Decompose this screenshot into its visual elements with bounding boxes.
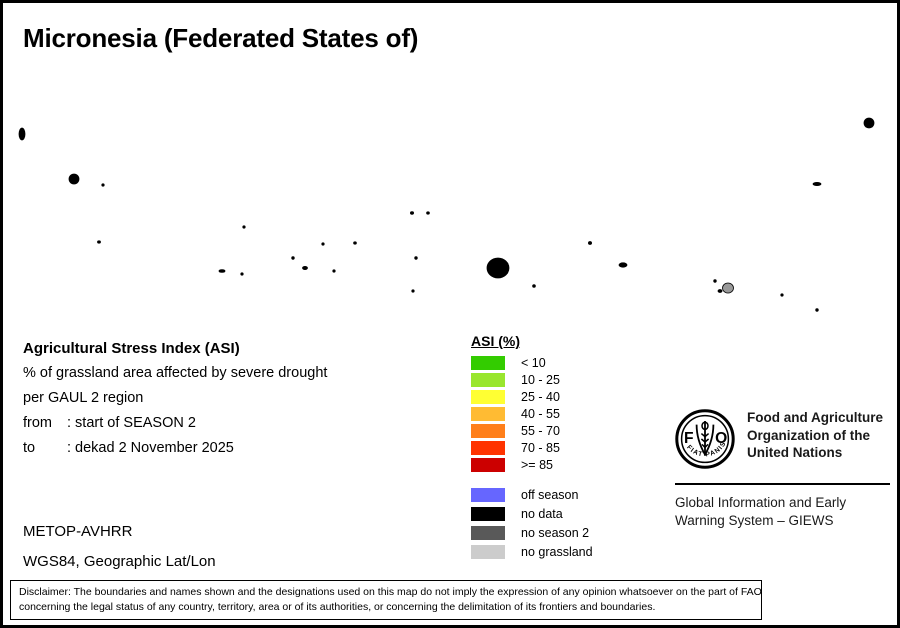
map-canvas[interactable]: [6, 58, 900, 313]
legend-class-swatch: [471, 356, 505, 370]
giews-line-2: Warning System – GIEWS: [675, 512, 890, 530]
disclaimer-line-1: Disclaimer: The boundaries and names sho…: [19, 581, 761, 600]
fao-logo-icon: F O FIAT PANIS: [675, 409, 735, 474]
map-feature-island-woleai[interactable]: [219, 270, 225, 273]
legend-special-row[interactable]: no data: [471, 505, 641, 522]
map-feature-island-nomwin[interactable]: [619, 263, 627, 267]
map-feature-island-ant[interactable]: [718, 290, 722, 293]
giews-text: Global Information and Early Warning Sys…: [675, 494, 890, 530]
legend: ASI (%) < 1010 - 2525 - 4040 - 5555 - 70…: [471, 333, 641, 562]
legend-title: ASI (%): [471, 333, 641, 349]
disclaimer-line-2: concerning the legal status of any count…: [19, 600, 761, 615]
map-feature-island-lamotrek[interactable]: [292, 257, 295, 260]
legend-class-swatch: [471, 407, 505, 421]
map-feature-island-chuuk-lagoon[interactable]: [487, 258, 509, 278]
map-feature-island-eauripik[interactable]: [243, 226, 245, 228]
description-block: Agricultural Stress Index (ASI) % of gra…: [23, 336, 453, 461]
svg-text:F: F: [684, 430, 694, 447]
map-feature-island-nama[interactable]: [588, 242, 591, 245]
fao-emblem-svg: F O FIAT PANIS: [675, 409, 735, 469]
disclaimer-box: Disclaimer: The boundaries and names sho…: [10, 580, 762, 620]
page-title: Micronesia (Federated States of): [23, 23, 418, 54]
map-feature-island-ifalik[interactable]: [241, 273, 243, 275]
legend-special-swatch: [471, 507, 505, 521]
period-from-label: from: [23, 411, 67, 436]
legend-special-swatch: [471, 526, 505, 540]
legend-class-list: < 1010 - 2525 - 4040 - 5555 - 7070 - 85>…: [471, 355, 641, 473]
map-feature-island-pohnpei[interactable]: [723, 283, 734, 293]
fao-header: F O FIAT PANIS Food and Agriculture: [675, 409, 890, 474]
legend-special-swatch: [471, 488, 505, 502]
legend-class-label: 40 - 55: [521, 407, 560, 421]
legend-class-label: 55 - 70: [521, 424, 560, 438]
source-projection: WGS84, Geographic Lat/Lon: [23, 547, 216, 577]
map-feature-island-losap[interactable]: [533, 285, 536, 288]
legend-class-label: 70 - 85: [521, 441, 560, 455]
legend-special-label: no data: [521, 507, 563, 521]
legend-class-label: 10 - 25: [521, 373, 560, 387]
map-feature-island-namonuito[interactable]: [415, 257, 418, 260]
fao-org-line-3: United Nations: [747, 444, 883, 462]
map-feature-island-mokil[interactable]: [813, 182, 821, 185]
source-sensor: METOP-AVHRR: [23, 517, 216, 547]
legend-special-label: no grassland: [521, 545, 593, 559]
description-line-2: per GAUL 2 region: [23, 386, 453, 411]
legend-class-label: < 10: [521, 356, 546, 370]
period-to-value: : dekad 2 November 2025: [67, 440, 234, 456]
map-feature-island-kosrae[interactable]: [864, 118, 874, 128]
legend-class-label: >= 85: [521, 458, 553, 472]
map-feature-island-ngulu[interactable]: [102, 184, 104, 186]
legend-special-row[interactable]: no grassland: [471, 543, 641, 560]
legend-class-row[interactable]: < 10: [471, 355, 641, 371]
fao-org-name: Food and Agriculture Organization of the…: [747, 409, 883, 462]
giews-line-1: Global Information and Early: [675, 494, 890, 512]
legend-class-label: 25 - 40: [521, 390, 560, 404]
legend-class-row[interactable]: 55 - 70: [471, 423, 641, 439]
period-from-value: : start of SEASON 2: [67, 415, 196, 431]
legend-special-label: no season 2: [521, 526, 589, 540]
legend-class-row[interactable]: 70 - 85: [471, 440, 641, 456]
legend-special-swatch: [471, 545, 505, 559]
period-to-label: to: [23, 436, 67, 461]
map-feature-island-pikelot[interactable]: [427, 212, 430, 214]
map-feature-island-sorol[interactable]: [98, 241, 101, 243]
legend-special-label: off season: [521, 488, 578, 502]
legend-class-row[interactable]: >= 85: [471, 457, 641, 473]
map-page: Micronesia (Federated States of) Agricul…: [0, 0, 900, 628]
map-feature-island-pingelap[interactable]: [816, 309, 819, 312]
map-feature-island-yap-west[interactable]: [19, 128, 25, 140]
legend-special-row[interactable]: off season: [471, 486, 641, 503]
legend-class-row[interactable]: 10 - 25: [471, 372, 641, 388]
map-feature-island-satawal[interactable]: [303, 266, 308, 269]
legend-class-swatch: [471, 373, 505, 387]
map-feature-island-oroluk[interactable]: [714, 280, 717, 283]
legend-class-swatch: [471, 458, 505, 472]
map-feature-island-yap-main[interactable]: [69, 174, 79, 184]
legend-class-row[interactable]: 40 - 55: [471, 406, 641, 422]
fao-divider: [675, 483, 890, 485]
legend-special-list: off seasonno datano season 2no grassland: [471, 486, 641, 560]
description-line-1: % of grassland area affected by severe d…: [23, 361, 453, 386]
legend-class-swatch: [471, 441, 505, 455]
map-feature-island-gaferut[interactable]: [410, 212, 413, 215]
period-to-row: to: dekad 2 November 2025: [23, 436, 453, 461]
legend-special-row[interactable]: no season 2: [471, 524, 641, 541]
map-feature-island-hall[interactable]: [412, 290, 414, 292]
map-feature-island-faraulep[interactable]: [322, 243, 324, 245]
fao-branding-block: F O FIAT PANIS Food and Agriculture: [675, 409, 890, 530]
source-block: METOP-AVHRR WGS84, Geographic Lat/Lon: [23, 517, 216, 577]
map-feature-island-pakin[interactable]: [781, 294, 783, 296]
map-feature-group: [19, 118, 899, 313]
description-heading: Agricultural Stress Index (ASI): [23, 336, 453, 361]
fao-org-line-2: Organization of the: [747, 427, 883, 445]
map-feature-island-puluwat[interactable]: [333, 270, 335, 272]
fao-org-line-1: Food and Agriculture: [747, 409, 883, 427]
map-feature-island-elato[interactable]: [354, 242, 357, 244]
map-islands-svg: [6, 58, 900, 313]
period-from-row: from: start of SEASON 2: [23, 411, 453, 436]
legend-class-swatch: [471, 424, 505, 438]
legend-class-swatch: [471, 390, 505, 404]
legend-class-row[interactable]: 25 - 40: [471, 389, 641, 405]
